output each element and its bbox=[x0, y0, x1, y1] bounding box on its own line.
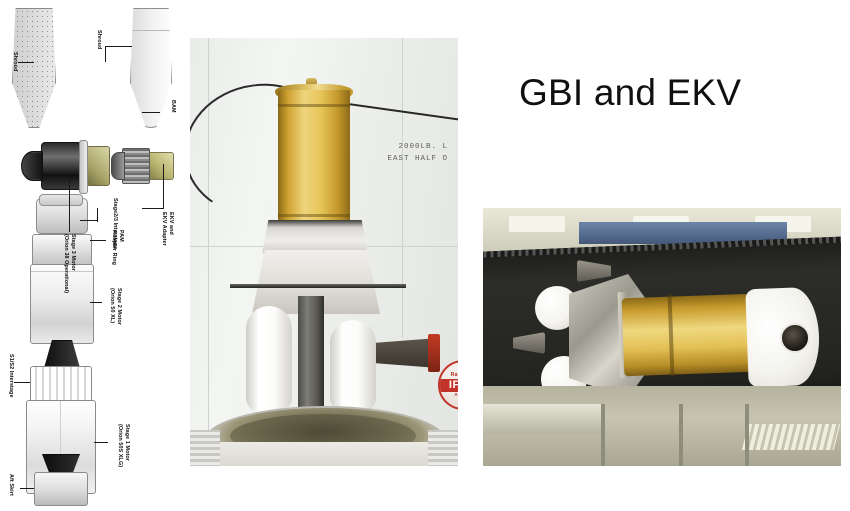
ekv-plumbing-rail bbox=[230, 284, 406, 288]
divert-thruster-lip bbox=[428, 334, 440, 372]
leader-shroud-left bbox=[106, 46, 132, 47]
support-post bbox=[679, 404, 683, 466]
wall-placard-line-2: EAST HALF O bbox=[387, 154, 448, 166]
pam-adapter-ring-illustration bbox=[36, 198, 88, 234]
wall-placard-line-1: 2000LB. L bbox=[387, 142, 448, 154]
leader-shroud-left-2 bbox=[105, 46, 106, 62]
ekv-sensor-illustration bbox=[146, 152, 174, 180]
leader-shroud-right bbox=[18, 62, 34, 63]
s1s2-interstage-illustration bbox=[30, 366, 92, 402]
gbi-exploded-diagram: Shroud BAM EKV and EKV Adapter Shroud St… bbox=[4, 2, 180, 510]
sticker-middle-text: IFT 7 bbox=[440, 379, 458, 392]
test-stand-base bbox=[216, 442, 430, 466]
shroud-half-upper-illustration bbox=[130, 8, 172, 128]
leader-aft-skirt bbox=[20, 488, 34, 489]
floor-grating bbox=[742, 424, 840, 450]
page-title: GBI and EKV bbox=[519, 72, 741, 114]
leader-interstage12 bbox=[14, 382, 30, 383]
ekv-nozzle-illustration bbox=[111, 152, 125, 180]
support-post bbox=[601, 404, 605, 466]
leader-pam bbox=[90, 240, 106, 241]
stage3-motor-illustration bbox=[41, 142, 85, 190]
support-post bbox=[745, 404, 749, 466]
leader-ekv-2 bbox=[142, 208, 164, 209]
ekv-gold-cylinder bbox=[278, 90, 350, 222]
ceiling-light bbox=[509, 216, 565, 232]
leader-stage2 bbox=[90, 302, 102, 303]
ekv-equipment-skirt bbox=[262, 220, 368, 254]
sticker-top-text: Raytheon bbox=[451, 373, 458, 378]
shroud-half-lower-illustration bbox=[12, 8, 56, 128]
ekv-core-structure bbox=[298, 296, 324, 414]
diagram-label-shroud-left: Shroud bbox=[95, 30, 102, 49]
diagram-label-stage3: Stage 3 Motor (Orion 38 Operational) bbox=[63, 234, 76, 293]
stage2-nozzle-illustration bbox=[44, 340, 80, 368]
ekv-adapter-illustration bbox=[86, 146, 110, 186]
diagram-label-stage1: Stage 1 Motor (Orion 50S XLG) bbox=[117, 424, 130, 467]
ekv-gold-band bbox=[278, 214, 350, 217]
work-bench bbox=[483, 404, 603, 434]
leader-stage1 bbox=[94, 442, 108, 443]
leader-stage3 bbox=[69, 180, 70, 232]
leader-interstage23-2 bbox=[97, 208, 98, 222]
leader-interstage23 bbox=[80, 220, 98, 221]
floor-grating-left bbox=[190, 430, 220, 466]
diagram-label-aft-skirt: Aft Skirt bbox=[7, 474, 14, 496]
presentation-slide: GBI and EKV bbox=[0, 0, 850, 511]
ekv-gold-band bbox=[278, 104, 350, 107]
diagram-label-stage2: Stage 2 Motor (Orion 50 XL) bbox=[109, 288, 122, 325]
seeker-aperture bbox=[780, 323, 810, 353]
stage3-nozzle-illustration bbox=[21, 151, 43, 181]
diagram-label-pam: PAM Adapter Ring bbox=[111, 230, 124, 265]
aft-skirt-illustration bbox=[34, 472, 88, 506]
ekv-body-illustration bbox=[122, 148, 150, 184]
diagram-label-shroud-right: Shroud bbox=[11, 52, 18, 71]
sticker-bottom-text: Aerojet bbox=[454, 393, 458, 398]
propellant-tank bbox=[330, 320, 376, 412]
photo-ekv-horizontal bbox=[483, 208, 841, 466]
propellant-tank bbox=[246, 306, 292, 412]
leader-ekv bbox=[163, 164, 164, 208]
diagram-label-ekv: EKV and EKV Adapter bbox=[161, 212, 174, 246]
wall-placard: 2000LB. L EAST HALF O bbox=[387, 142, 448, 165]
photo-ekv-vertical: 2000LB. L EAST HALF O Raytheon IFT 7 Aer… bbox=[190, 38, 458, 466]
floor-grating-right bbox=[428, 430, 458, 466]
ekv-gold-cylinder bbox=[622, 294, 757, 377]
leader-bam bbox=[142, 112, 160, 113]
diagram-label-bam: BAM bbox=[169, 100, 176, 113]
diagram-label-interstage12: S1/S2 Interstage bbox=[7, 354, 14, 398]
